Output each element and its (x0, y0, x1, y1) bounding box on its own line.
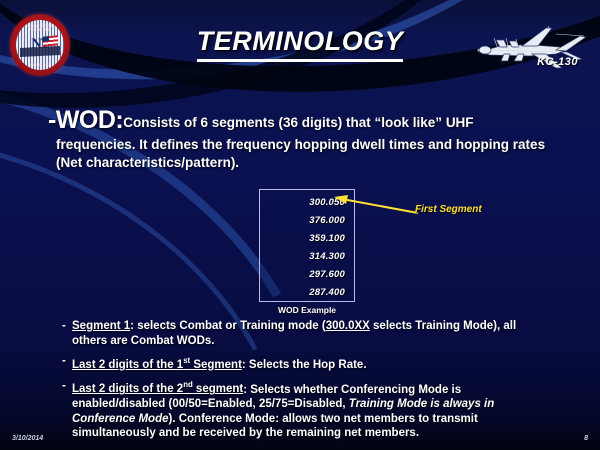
wod-frequency-row: 297.600 (309, 269, 345, 280)
bullet-list: -Segment 1: selects Combat or Training m… (62, 319, 554, 447)
wod-term: -WOD: (48, 106, 123, 134)
bullet-label-pre: Last 2 digits of the 1 (72, 359, 183, 371)
footer-date: 3/10/2014 (12, 435, 43, 442)
bullet-label-post: segment (193, 383, 244, 395)
wod-frequency-row: 359.100 (309, 233, 345, 244)
slide-header: MARINE AERIAL REFUELER NY VMGR-252 TERMI… (0, 0, 600, 88)
emblem-bottom-text: VMGR-252 (16, 63, 64, 67)
bullet-dash: - (62, 354, 66, 369)
bullet-label-superscript: nd (183, 381, 193, 390)
bullet-label: Segment 1 (72, 320, 130, 332)
wod-frequency-row: 287.400 (309, 287, 345, 298)
first-segment-callout-label: First Segment (415, 204, 482, 215)
wod-definition-first-line: Consists of 6 segments (36 digits) that … (123, 115, 473, 130)
bullet-dash: - (62, 319, 66, 334)
bullet-label-pre: Last 2 digits of the 2 (72, 383, 183, 395)
bullet-label: Last 2 digits of the 2nd segment (72, 383, 243, 395)
bullet-emphasis: 300.0XX (326, 320, 370, 332)
bullet-text-a: : Selects the Hop Rate. (242, 359, 367, 371)
slide-canvas: MARINE AERIAL REFUELER NY VMGR-252 TERMI… (0, 0, 600, 450)
wod-definition-block: -WOD:Consists of 6 segments (36 digits) … (48, 106, 553, 171)
bullet-label: Last 2 digits of the 1st Segment (72, 359, 242, 371)
page-title-text: TERMINOLOGY (197, 26, 404, 62)
wod-frequency-row: 314.300 (309, 251, 345, 262)
list-item: -Last 2 digits of the 2nd segment: Selec… (62, 379, 554, 441)
bullet-label-post: Segment (190, 359, 242, 371)
footer-page-number: 8 (584, 435, 588, 442)
callout-arrow-icon (332, 191, 420, 219)
aircraft-model-label: KC-130 (537, 56, 578, 68)
wod-example-caption: WOD Example (247, 305, 367, 315)
bullet-dash: - (62, 379, 66, 394)
list-item: -Segment 1: selects Combat or Training m… (62, 319, 554, 348)
list-item: -Last 2 digits of the 1st Segment: Selec… (62, 354, 554, 372)
wod-definition-rest: frequencies. It defines the frequency ho… (56, 136, 553, 171)
bullet-text-a: : selects Combat or Training mode ( (130, 320, 326, 332)
